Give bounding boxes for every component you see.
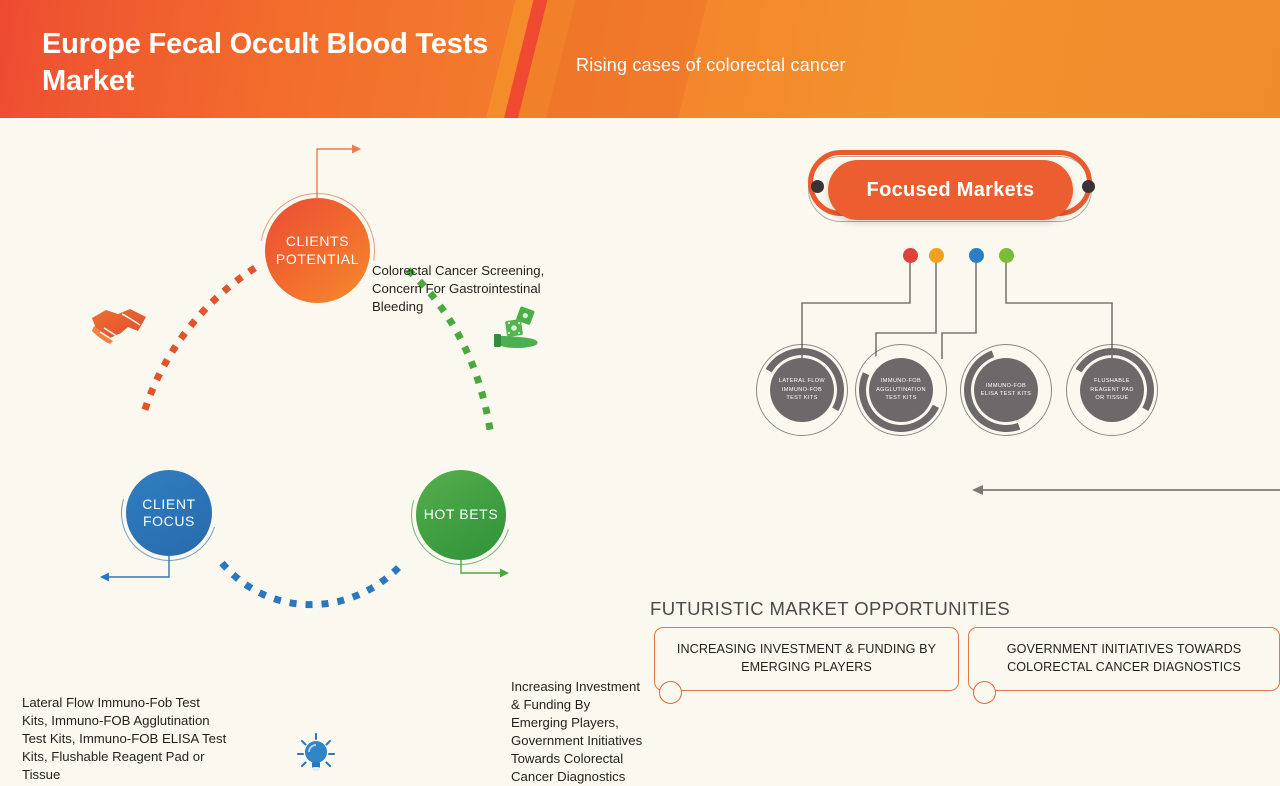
arrowhead-client-focus xyxy=(100,573,109,582)
market-circle-lateral-flow[interactable]: LATERAL FLOW IMMUNO-FOB TEST KITS xyxy=(760,348,844,432)
pin-flushable[interactable] xyxy=(999,248,1014,263)
arrowhead-hot-bets xyxy=(500,569,509,578)
page-title: Europe Fecal Occult Blood Tests Market xyxy=(42,26,492,100)
bubble-label: CLIENTS POTENTIAL xyxy=(265,233,370,268)
focused-markets-header: Focused Markets xyxy=(800,150,1100,232)
dotted-arc-orange xyxy=(143,268,255,416)
caption-client-focus: Lateral Flow Immuno-Fob Test Kits, Immun… xyxy=(22,694,227,784)
connector-client-focus xyxy=(109,556,169,577)
pin-agglutination[interactable] xyxy=(929,248,944,263)
futuristic-marker-1 xyxy=(659,681,682,704)
infographic-canvas: Europe Fecal Occult Blood Tests Market R… xyxy=(0,0,1280,680)
futuristic-marker-2 xyxy=(973,681,996,704)
market-circle-label: LATERAL FLOW IMMUNO-FOB TEST KITS xyxy=(770,358,834,422)
bubble-hot-bets[interactable]: HOT BETS xyxy=(416,470,506,560)
caption-hot-bets: Increasing Investment & Funding By Emerg… xyxy=(511,678,643,786)
bubble-label: HOT BETS xyxy=(424,506,499,524)
header-subtitle: Rising cases of colorectal cancer xyxy=(576,54,846,77)
futuristic-section-title: FUTURISTIC MARKET OPPORTUNITIES xyxy=(650,598,1010,620)
dotted-arc-blue xyxy=(222,563,400,605)
focused-markets-dot-right xyxy=(1082,180,1095,193)
diagram-stage: CLIENTS POTENTIAL CLIENT FOCUS HOT BETS … xyxy=(0,118,1280,680)
futuristic-box-government[interactable]: GOVERNMENT INITIATIVES TOWARDS COLORECTA… xyxy=(968,627,1280,691)
caption-clients-potential: Colorectal Cancer Screening, Concern For… xyxy=(372,262,552,316)
pin-lateral-flow[interactable] xyxy=(903,248,918,263)
market-circle-label: FLUSHABLE REAGENT PAD OR TISSUE xyxy=(1080,358,1144,422)
bubble-client-focus[interactable]: CLIENT FOCUS xyxy=(126,470,212,556)
market-circle-elisa[interactable]: IMMUNO-FOB ELISA TEST KITS xyxy=(964,348,1048,432)
header-banner: Europe Fecal Occult Blood Tests Market R… xyxy=(0,0,1280,118)
handshake-icon xyxy=(88,300,154,350)
lightbulb-icon xyxy=(296,732,336,776)
futuristic-box-investment[interactable]: INCREASING INVESTMENT & FUNDING BY EMERG… xyxy=(654,627,959,691)
bubble-label: CLIENT FOCUS xyxy=(126,496,212,531)
futuristic-title-arrow xyxy=(968,480,1280,504)
focused-markets-title: Focused Markets xyxy=(828,160,1073,220)
arrowhead-clients-potential xyxy=(352,145,361,154)
market-circle-agglutination[interactable]: IMMUNO-FOB AGGLUTINATION TEST KITS xyxy=(859,348,943,432)
connector-clients-potential xyxy=(317,149,352,198)
pin-elisa[interactable] xyxy=(969,248,984,263)
market-circle-label: IMMUNO-FOB ELISA TEST KITS xyxy=(974,358,1038,422)
bubble-clients-potential[interactable]: CLIENTS POTENTIAL xyxy=(265,198,370,303)
focused-markets-dot-left xyxy=(811,180,824,193)
market-circle-flushable[interactable]: FLUSHABLE REAGENT PAD OR TISSUE xyxy=(1070,348,1154,432)
market-circle-label: IMMUNO-FOB AGGLUTINATION TEST KITS xyxy=(869,358,933,422)
connector-hot-bets xyxy=(461,560,500,573)
